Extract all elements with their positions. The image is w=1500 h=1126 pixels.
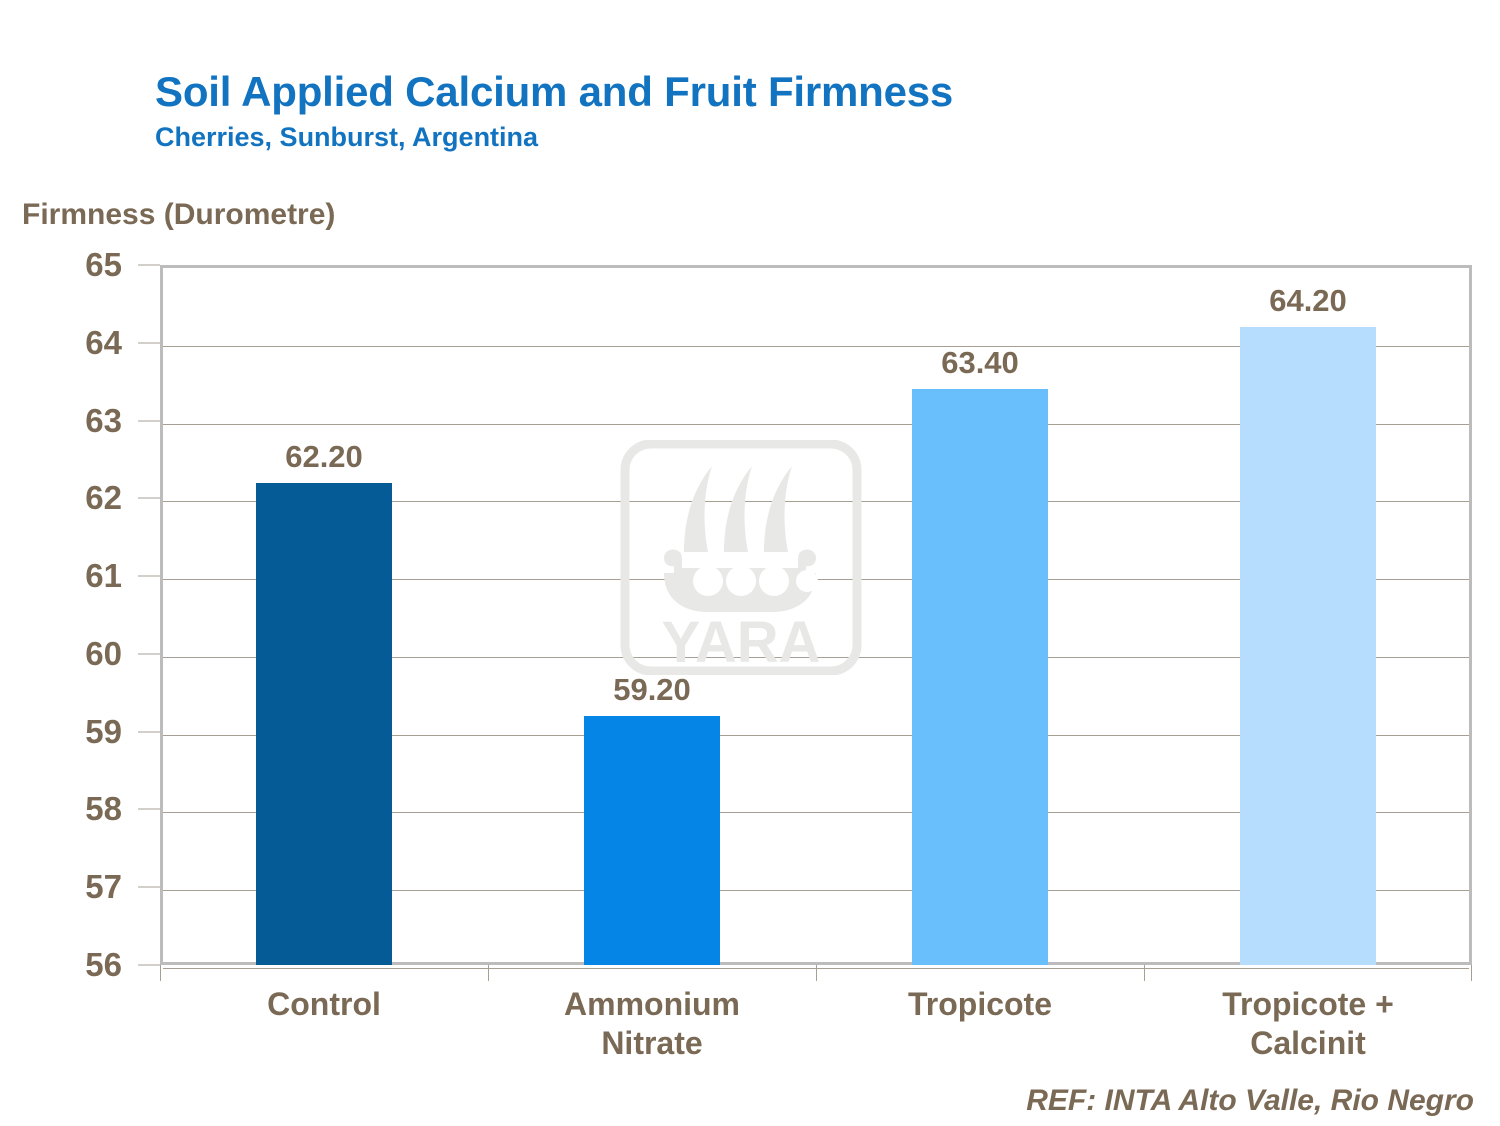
category-label-line: Ammonium	[488, 985, 816, 1024]
category-tick	[816, 965, 817, 981]
y-tick-mark-57	[138, 887, 160, 888]
y-tick-label-57: 57	[85, 868, 122, 906]
bar-group: 63.40	[816, 265, 1144, 965]
chart-subtitle: Cherries, Sunburst, Argentina	[155, 121, 1355, 153]
y-tick-mark-62	[138, 498, 160, 499]
category-label-line: Control	[160, 985, 488, 1024]
y-tick-mark-63	[138, 420, 160, 421]
category-label-line: Tropicote +	[1144, 985, 1472, 1024]
category-label-2: Tropicote	[816, 985, 1144, 1063]
chart-title: Soil Applied Calcium and Fruit Firmness	[155, 70, 1355, 115]
category-label-3: Tropicote +Calcinit	[1144, 985, 1472, 1063]
y-axis-title: Firmness (Durometre)	[22, 198, 335, 232]
y-tick-label-59: 59	[85, 713, 122, 751]
category-tick-marks	[160, 965, 1472, 981]
category-tick	[488, 965, 489, 981]
bar[interactable]	[256, 483, 392, 965]
y-tick-label-65: 65	[85, 246, 122, 284]
x-axis-category-labels: ControlAmmoniumNitrateTropicoteTropicote…	[160, 985, 1472, 1063]
y-tick-mark-56	[138, 965, 160, 966]
y-tick-mark-64	[138, 342, 160, 343]
category-label-line: Calcinit	[1144, 1024, 1472, 1063]
bar[interactable]	[912, 389, 1048, 965]
y-tick-label-62: 62	[85, 479, 122, 517]
bar-value-label: 63.40	[941, 345, 1019, 381]
category-tick	[160, 965, 161, 981]
y-tick-label-58: 58	[85, 790, 122, 828]
bar-group: 64.20	[1144, 265, 1472, 965]
category-label-0: Control	[160, 985, 488, 1063]
bar[interactable]	[1240, 327, 1376, 965]
y-tick-label-56: 56	[85, 946, 122, 984]
y-tick-label-61: 61	[85, 557, 122, 595]
bars-layer: 62.2059.2063.4064.20	[160, 265, 1472, 965]
y-tick-mark-65	[138, 265, 160, 266]
bar-value-label: 59.20	[613, 672, 691, 708]
category-label-line: Tropicote	[816, 985, 1144, 1024]
category-tick	[1471, 965, 1472, 981]
category-label-line: Nitrate	[488, 1024, 816, 1063]
reference-note: REF: INTA Alto Valle, Rio Negro	[1026, 1084, 1474, 1118]
y-tick-label-63: 63	[85, 402, 122, 440]
y-tick-label-60: 60	[85, 635, 122, 673]
title-block: Soil Applied Calcium and Fruit Firmness …	[155, 70, 1355, 153]
y-tick-mark-61	[138, 576, 160, 577]
bar-value-label: 64.20	[1269, 283, 1347, 319]
y-tick-mark-58	[138, 809, 160, 810]
y-tick-label-64: 64	[85, 324, 122, 362]
y-tick-mark-60	[138, 653, 160, 654]
bar-group: 59.20	[488, 265, 816, 965]
y-axis-ticks: 65646362616059585756	[0, 265, 160, 965]
y-tick-mark-59	[138, 731, 160, 732]
category-label-1: AmmoniumNitrate	[488, 985, 816, 1063]
bar-group: 62.20	[160, 265, 488, 965]
bar[interactable]	[584, 716, 720, 965]
category-tick	[1144, 965, 1145, 981]
bar-value-label: 62.20	[285, 439, 363, 475]
